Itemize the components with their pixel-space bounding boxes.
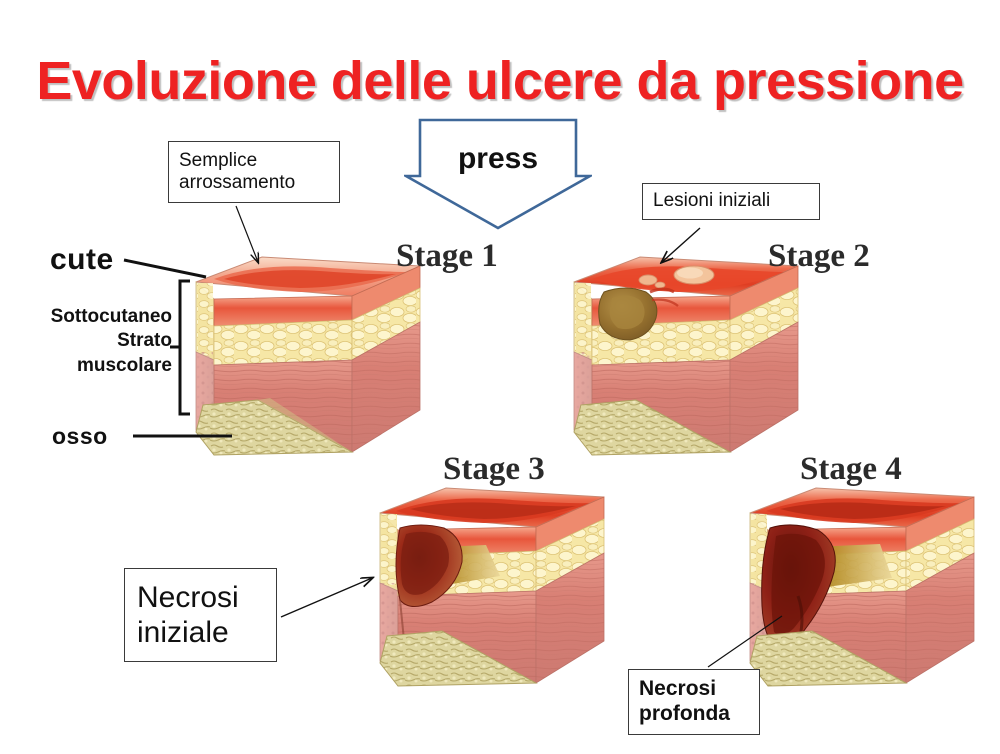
callout-lesioni-line1: Lesioni iniziali xyxy=(653,190,819,212)
stage-4-tissue-block xyxy=(750,488,974,686)
stage-1-tissue-block xyxy=(196,257,420,455)
callout-semplice-line2: arrossamento xyxy=(179,172,339,194)
callout-necrosi-iniziale: Necrosi iniziale xyxy=(124,568,277,662)
callout-semplice-arrossamento: Semplice arrossamento xyxy=(168,141,340,203)
callout-necrosi-iniziale-line2: iniziale xyxy=(137,615,276,650)
callout-semplice-line1: Semplice xyxy=(179,150,339,172)
callout-lesioni-iniziali: Lesioni iniziali xyxy=(642,183,820,220)
callout-necrosi-profonda-line1: Necrosi xyxy=(639,677,759,702)
callout-necrosi-profonda: Necrosi profonda xyxy=(628,669,760,735)
label-osso: osso xyxy=(52,423,108,450)
callout-necrosi-profonda-line2: profonda xyxy=(639,702,759,727)
callout-necrosi-iniziale-line1: Necrosi xyxy=(137,580,276,615)
stage-2-tissue-block xyxy=(574,257,798,455)
label-subcutaneous-muscle-group: Sottocutaneo Strato muscolare xyxy=(0,305,172,378)
stage-3-caption: Stage 3 xyxy=(443,451,545,488)
stage-4-caption: Stage 4 xyxy=(800,451,902,488)
press-arrow-label: press xyxy=(404,142,592,176)
stage-1-caption: Stage 1 xyxy=(396,238,498,275)
slide-canvas: Evoluzione delle ulcere da pressione xyxy=(0,0,1000,754)
stage-2-caption: Stage 2 xyxy=(768,238,870,275)
label-muscolare: muscolare xyxy=(0,354,172,378)
label-sottocutaneo: Sottocutaneo xyxy=(0,305,172,329)
label-cute: cute xyxy=(50,243,114,277)
label-strato: Strato xyxy=(0,329,172,353)
stage-3-tissue-block xyxy=(380,488,604,686)
